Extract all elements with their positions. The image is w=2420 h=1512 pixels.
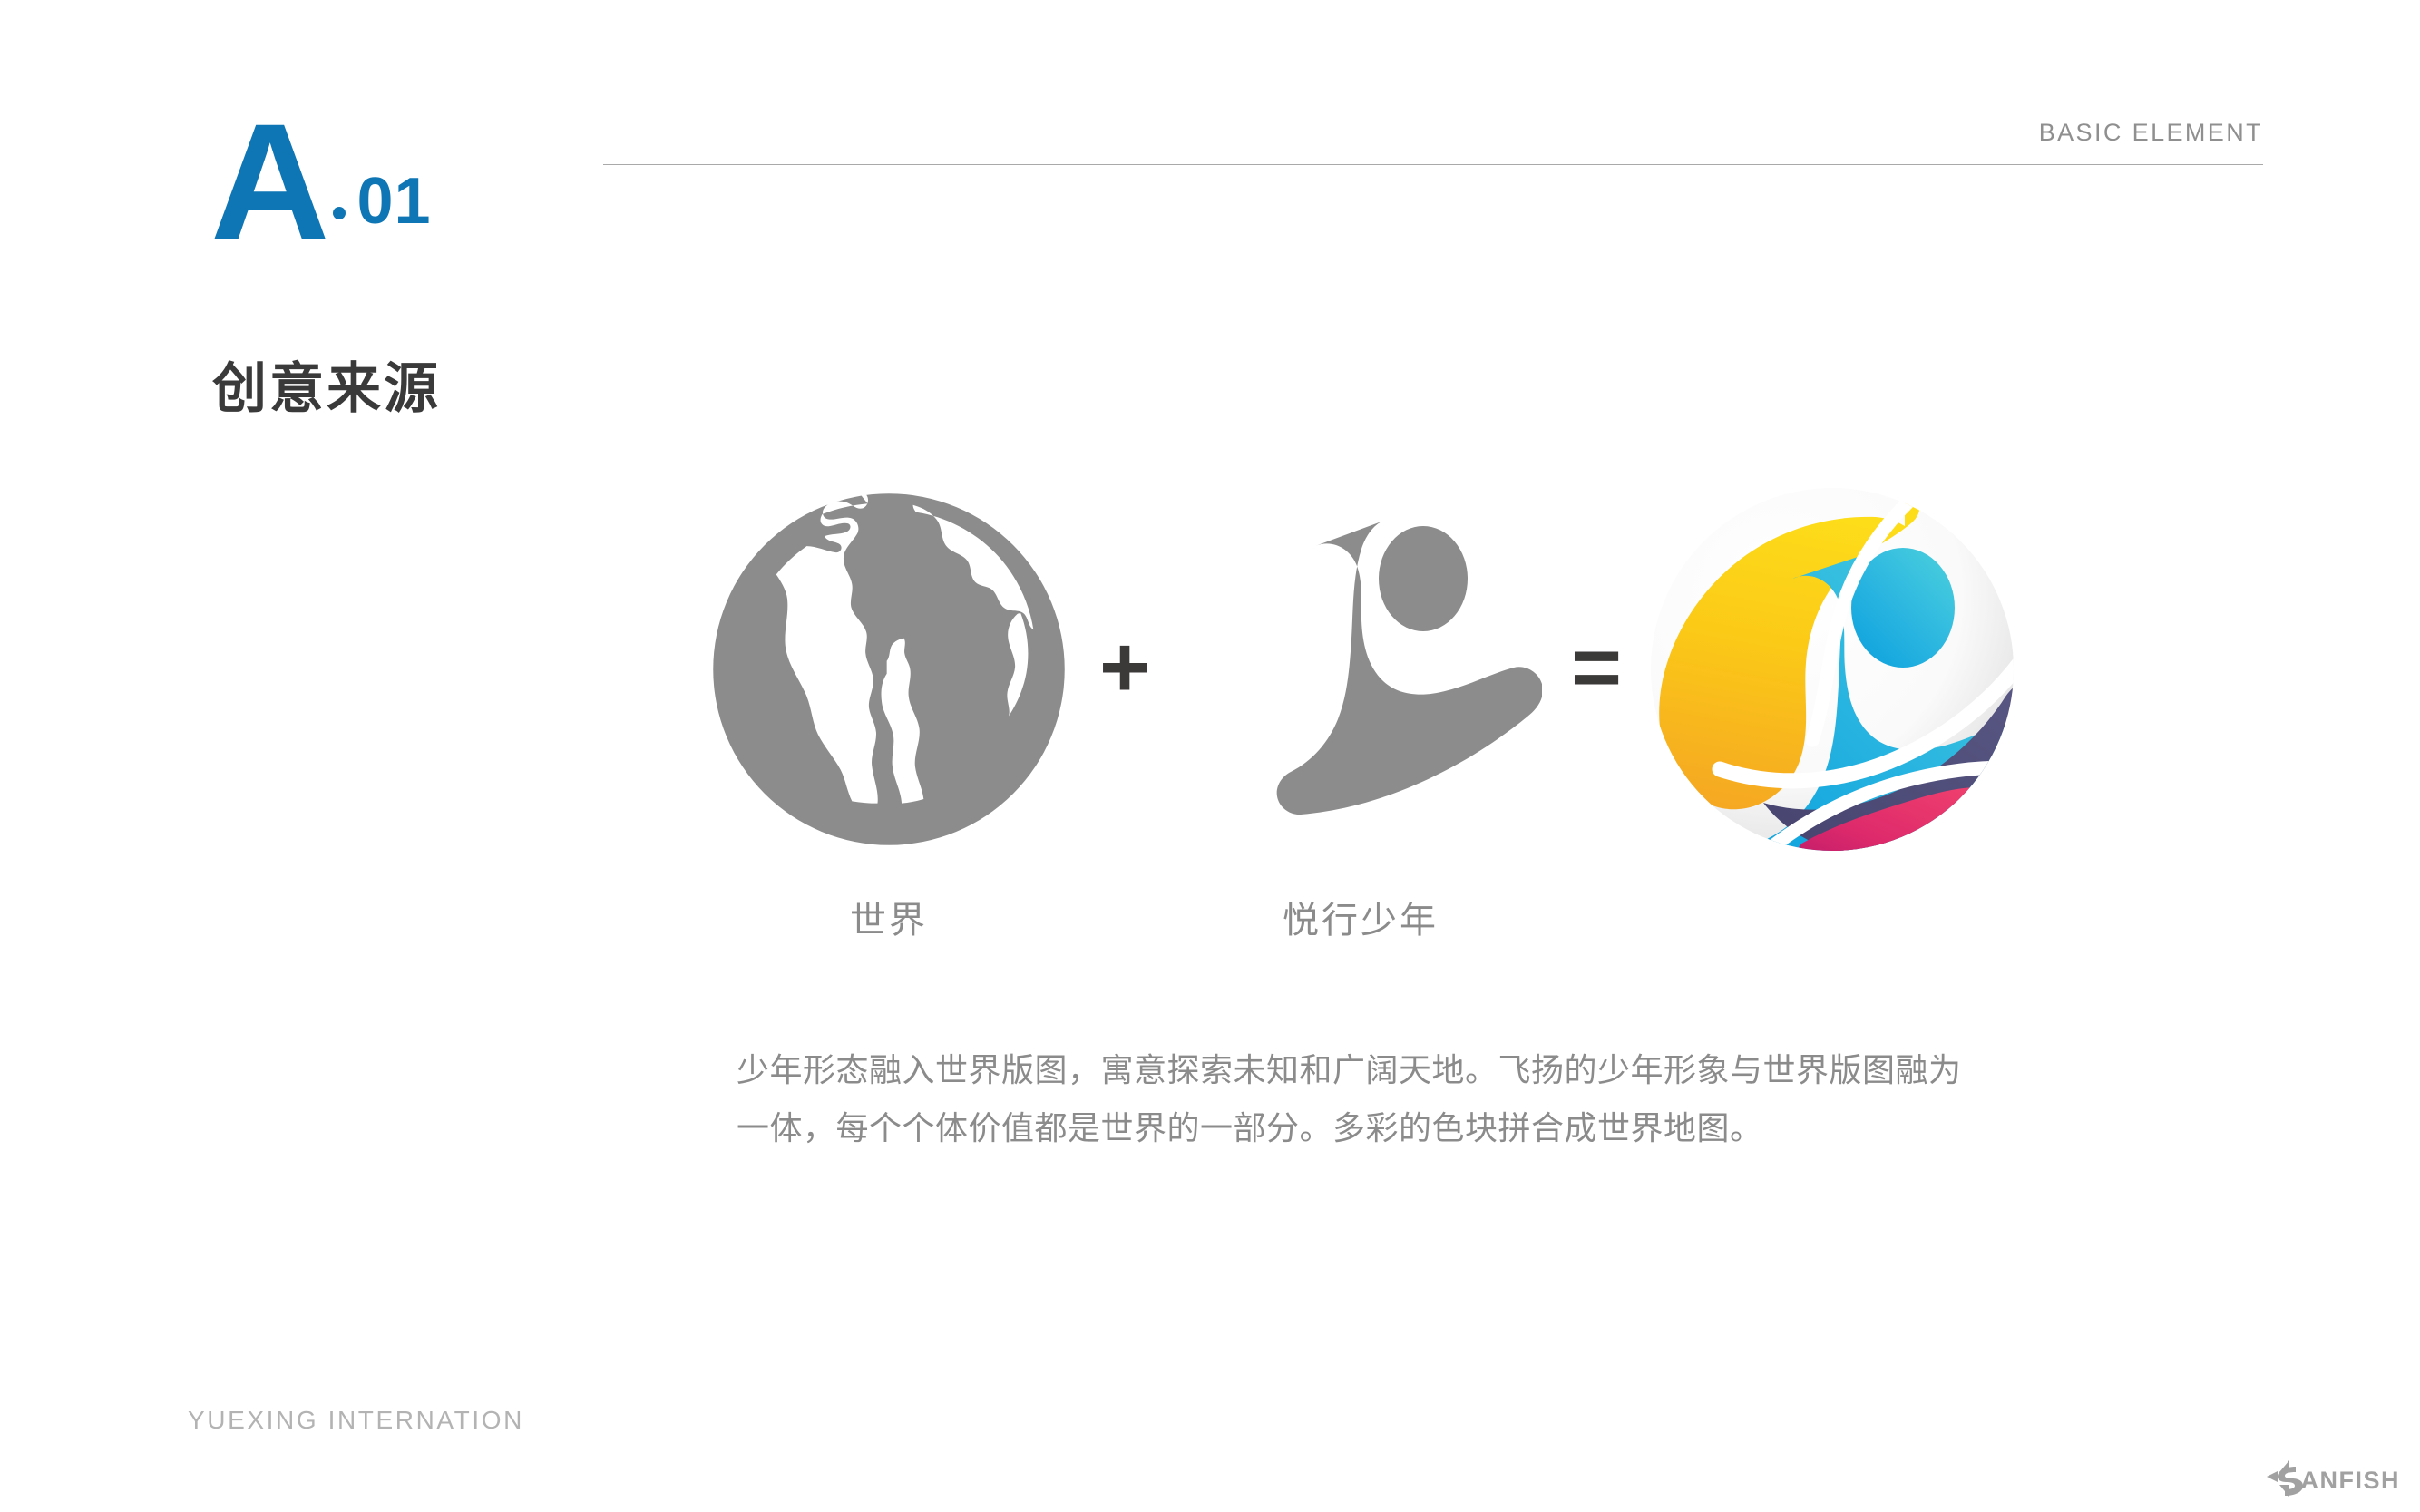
equation-term-world: [707, 472, 1070, 871]
operator-plus: +: [1070, 624, 1179, 718]
footer-brand: YUEXING INTERNATION: [188, 1406, 524, 1435]
description-line-1: 少年形态融入世界版图，寓意探索未知和广阔天地。飞扬的少年形象与世界版图融为: [737, 1041, 2152, 1099]
concept-equation: + =: [707, 472, 2141, 871]
description-paragraph: 少年形态融入世界版图，寓意探索未知和广阔天地。飞扬的少年形象与世界版图融为 一体…: [737, 1041, 2152, 1157]
page-title: 创意来源: [212, 345, 441, 424]
section-marker-letter: A: [210, 118, 327, 247]
header-kicker: BASIC ELEMENT: [2039, 119, 2263, 147]
slide-canvas: BASIC ELEMENT A 01 创意来源 +: [0, 0, 2420, 1512]
globe-icon: [707, 488, 1070, 855]
caption-youth: 悦行少年: [1179, 891, 1542, 943]
watermark-text: ANFISH: [2301, 1467, 2401, 1495]
equation-result-logo: [1651, 472, 2014, 871]
yuexing-logo-icon: [1633, 470, 2032, 873]
equation-term-youth: [1179, 472, 1542, 871]
description-line-2: 一体，每个个体价值都是世界的一部分。多彩的色块拼合成世界地图。: [737, 1099, 2152, 1157]
watermark: ANFISH: [2265, 1458, 2401, 1503]
header-divider: [603, 164, 2263, 165]
section-marker: A 01: [210, 118, 432, 247]
leaping-figure-icon: [1179, 488, 1542, 855]
section-marker-number: 01: [356, 176, 431, 227]
section-marker-dot-icon: [333, 207, 346, 219]
caption-world: 世界: [707, 891, 1070, 943]
